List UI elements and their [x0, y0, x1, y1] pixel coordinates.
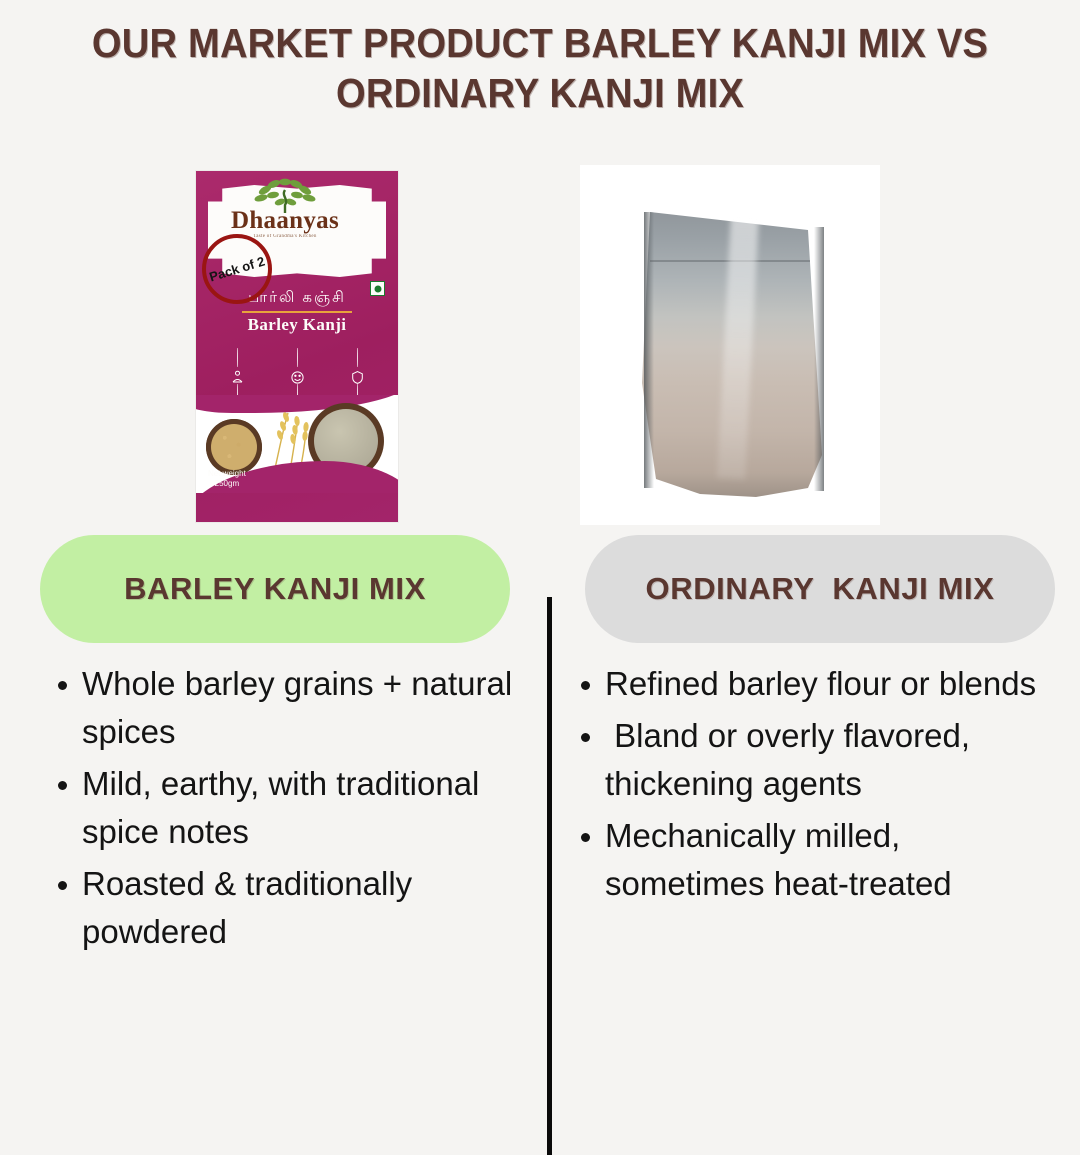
ordinary-kanji-product-image: [555, 160, 1075, 525]
ordinary-stand-up-pouch: [632, 197, 832, 497]
comparison-columns: Dhaanyas Taste of Grandma's Kitchen Pack…: [0, 160, 1080, 1060]
ordinary-kanji-mix-pill-label: ORDINARY KANJI MIX: [646, 571, 995, 607]
list-item: Whole barley grains + natural spices: [50, 660, 520, 756]
pack-of-2-badge: Pack of 2: [202, 234, 272, 304]
list-item: Mechanically milled, sometimes heat-trea…: [573, 812, 1063, 908]
dhaanyas-barley-kanji-pack: Dhaanyas Taste of Grandma's Kitchen Pack…: [196, 171, 398, 522]
net-weight-line-1: Net weight: [208, 469, 246, 478]
ordinary-photo-backdrop: [580, 165, 880, 525]
page-title-line-1: OUR MARKET PRODUCT BARLEY KANJI MIX VS: [38, 18, 1042, 68]
pack-product-photo: Net weight 250gm: [196, 395, 398, 493]
ordinary-kanji-mix-pill: ORDINARY KANJI MIX: [585, 535, 1055, 643]
pack-name-underline: [242, 311, 352, 313]
pouch-right-edge: [814, 227, 824, 491]
page-title: OUR MARKET PRODUCT BARLEY KANJI MIX VS O…: [0, 18, 1080, 118]
barley-kanji-feature-list: Whole barley grains + natural spices Mil…: [50, 660, 520, 960]
list-item: Roasted & traditionally powdered: [50, 860, 520, 956]
barley-kanji-mix-pill: BARLEY KANJI MIX: [40, 535, 510, 643]
ordinary-kanji-feature-list: Refined barley flour or blends Bland or …: [573, 660, 1063, 912]
barley-grain-bowl: [206, 419, 262, 475]
barley-kanji-product-image: Dhaanyas Taste of Grandma's Kitchen Pack…: [20, 160, 540, 525]
column-barley-kanji-mix: Dhaanyas Taste of Grandma's Kitchen Pack…: [20, 160, 540, 1060]
product-name-english: Barley Kanji: [196, 315, 398, 335]
dhaanyas-logo: Dhaanyas Taste of Grandma's Kitchen: [196, 177, 374, 239]
pack-of-2-label: Pack of 2: [208, 253, 267, 284]
list-item: Mild, earthy, with traditional spice not…: [50, 760, 520, 856]
list-item: Refined barley flour or blends: [573, 660, 1063, 708]
net-weight: Net weight 250gm: [208, 469, 246, 489]
column-divider: [547, 597, 552, 1155]
pouch-left-edge: [644, 212, 654, 488]
list-item: Bland or overly flavored, thickening age…: [573, 712, 1063, 808]
net-weight-line-2: 250gm: [215, 479, 239, 488]
brand-name: Dhaanyas: [196, 209, 374, 233]
page-title-line-2: ORDINARY KANJI MIX: [38, 68, 1042, 118]
column-ordinary-kanji-mix: ORDINARY KANJI MIX Refined barley flour …: [555, 160, 1075, 1060]
barley-kanji-mix-pill-label: BARLEY KANJI MIX: [124, 571, 426, 607]
